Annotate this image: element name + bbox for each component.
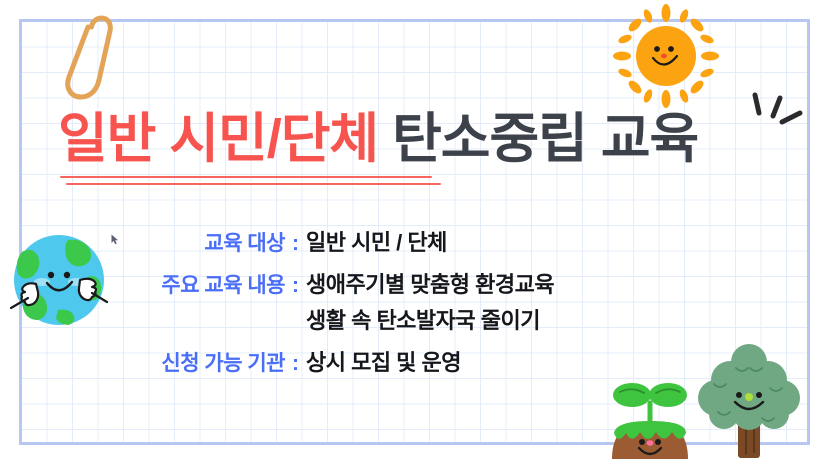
page-title: 일반 시민/단체 탄소중립 교육 <box>58 104 788 180</box>
info-label: 신청 가능 기관 <box>120 347 285 377</box>
poster-canvas: 일반 시민/단체 탄소중립 교육 <box>0 0 835 470</box>
title-underline-line-2 <box>66 183 441 185</box>
info-value: 일반 시민 / 단체 <box>306 225 447 257</box>
tree-character-icon <box>694 340 804 470</box>
page-title-rest: 탄소중립 교육 <box>378 109 698 169</box>
info-row: 주요 교육 내용 : 생애주기별 맞춤형 환경교육 <box>120 267 680 299</box>
info-list: 교육 대상 : 일반 시민 / 단체 주요 교육 내용 : 생애주기별 맞춤형 … <box>120 225 680 383</box>
sun-icon <box>606 2 726 110</box>
sparkle-icon <box>735 85 825 155</box>
sprout-character-icon <box>600 363 700 470</box>
info-row: 교육 대상 : 일반 시민 / 단체 <box>120 225 680 257</box>
earth-character-icon <box>6 230 112 330</box>
info-value: 생애주기별 맞춤형 환경교육 <box>306 267 554 299</box>
info-colon: : <box>285 232 306 256</box>
paperclip-icon <box>56 4 128 104</box>
info-row: 신청 가능 기관 : 상시 모집 및 운영 <box>120 345 680 377</box>
mouse-cursor-artifact <box>111 232 119 243</box>
info-colon: : <box>285 274 306 298</box>
info-colon: : <box>285 352 306 376</box>
info-row-continuation: 주요 교육 내용 : 생활 속 탄소발자국 줄이기 <box>120 303 680 335</box>
page-title-highlight: 일반 시민/단체 <box>58 109 378 169</box>
info-label: 주요 교육 내용 <box>120 269 285 299</box>
info-value: 상시 모집 및 운영 <box>306 345 461 377</box>
title-underline-line-1 <box>60 176 432 178</box>
title-underline <box>60 176 455 186</box>
info-value: 생활 속 탄소발자국 줄이기 <box>306 303 540 335</box>
info-label: 교육 대상 <box>120 227 285 257</box>
